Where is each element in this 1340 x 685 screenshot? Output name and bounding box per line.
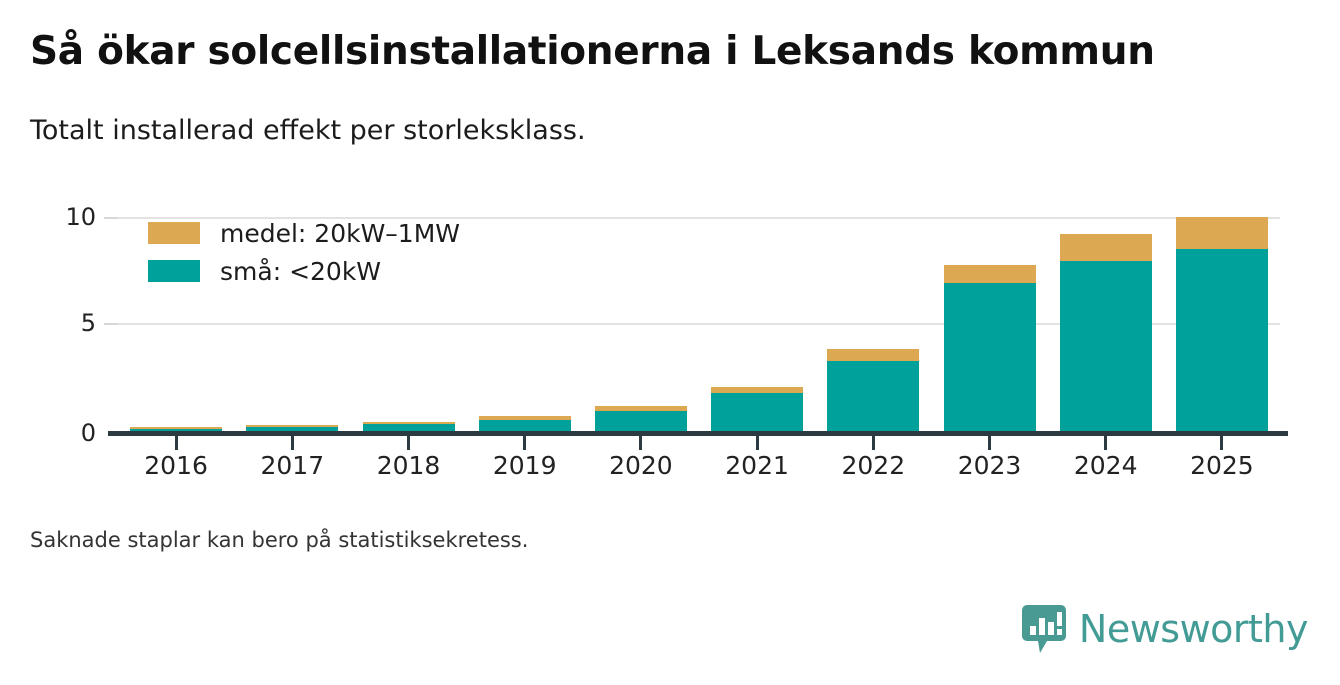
x-tick-mark [291,436,294,450]
chart-page: Så ökar solcellsinstallationerna i Leksa… [0,0,1340,685]
x-tick-mark [175,436,178,450]
newsworthy-bubble-chart-icon [1021,603,1067,655]
y-tick-mark-5 [104,323,118,325]
bar-segment-small[interactable] [944,283,1036,433]
legend-swatch [148,260,200,282]
legend-item[interactable]: medel: 20kW–1MW [148,214,460,252]
bar-group[interactable] [1176,217,1268,433]
bar-segment-small[interactable] [711,393,803,433]
legend-item[interactable]: små: <20kW [148,252,460,290]
x-tick-label: 2025 [1152,452,1292,480]
legend: medel: 20kW–1MWsmå: <20kW [148,214,460,290]
bar-segment-small[interactable] [1060,261,1152,433]
y-tick-label-0: 0 [36,421,96,445]
bar-segment-medium[interactable] [827,349,919,361]
bar-group[interactable] [595,406,687,433]
y-tick-label-5: 5 [36,311,96,335]
legend-label: små: <20kW [220,259,381,284]
x-tick-mark [988,436,991,450]
bar-segment-small[interactable] [1176,249,1268,433]
x-tick-mark [872,436,875,450]
legend-swatch [148,222,200,244]
bar-segment-small[interactable] [827,361,919,433]
x-tick-mark [523,436,526,450]
legend-label: medel: 20kW–1MW [220,221,460,246]
bar-group[interactable] [711,387,803,433]
x-axis-line [108,431,1288,436]
bar-group[interactable] [827,349,919,433]
x-tick-mark [756,436,759,450]
bar-segment-small[interactable] [595,411,687,433]
x-tick-mark [1220,436,1223,450]
footnote: Saknade staplar kan bero på statistiksek… [30,528,528,552]
bar-segment-medium[interactable] [1060,234,1152,261]
bar-segment-medium[interactable] [944,265,1036,283]
bar-chart: 10 5 0 201620172018201920202021202220232… [0,0,1340,685]
bar-group[interactable] [1060,234,1152,433]
x-tick-mark [1104,436,1107,450]
y-tick-mark-10 [104,217,118,219]
newsworthy-wordmark: Newsworthy [1079,610,1308,648]
y-tick-label-10: 10 [36,205,96,229]
x-tick-mark [407,436,410,450]
bar-group[interactable] [944,265,1036,433]
bar-segment-medium[interactable] [1176,217,1268,249]
newsworthy-logo[interactable]: Newsworthy [1021,603,1308,655]
x-tick-mark [639,436,642,450]
